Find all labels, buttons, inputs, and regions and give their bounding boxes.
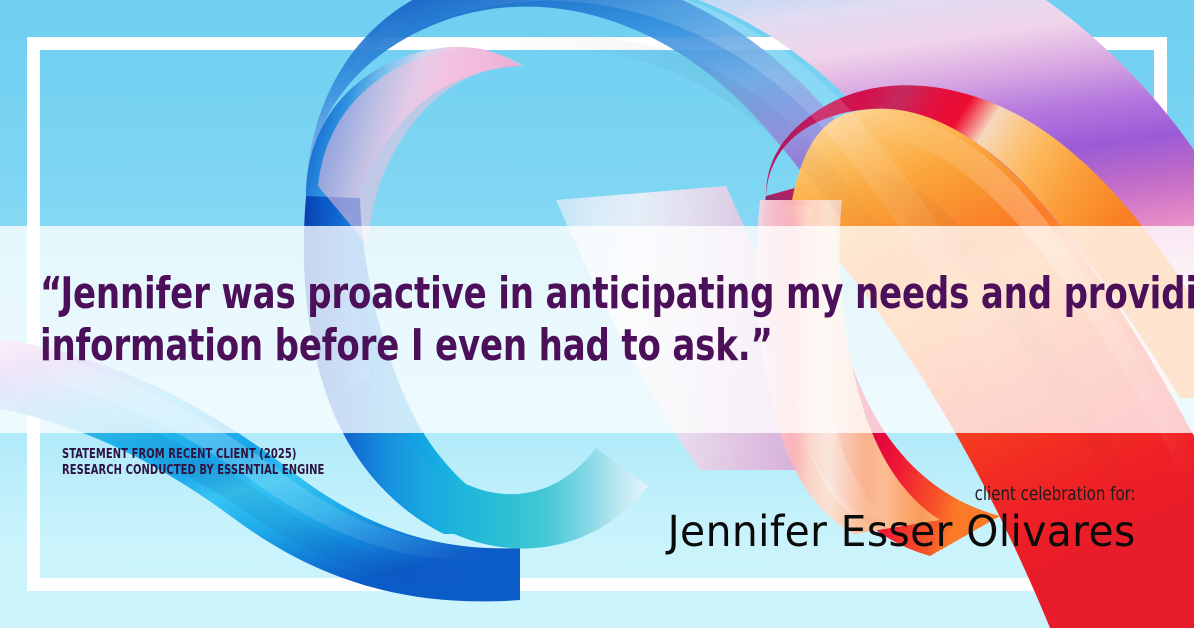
quote-line-1: “Jennifer was proactive in anticipating … xyxy=(40,268,900,320)
attribution-line-1: STATEMENT FROM RECENT CLIENT (2025) xyxy=(62,447,324,463)
quote-line-2: information before I even had to ask.” xyxy=(40,320,900,372)
signoff-block: client celebration for: Jennifer Esser O… xyxy=(643,483,1136,557)
testimonial-graphic-canvas: “Jennifer was proactive in anticipating … xyxy=(0,0,1194,628)
signoff-name: Jennifer Esser Olivares xyxy=(668,507,1136,557)
signoff-label: client celebration for: xyxy=(702,483,1136,505)
attribution-line-2: RESEARCH CONDUCTED BY ESSENTIAL ENGINE xyxy=(62,463,324,479)
testimonial-quote: “Jennifer was proactive in anticipating … xyxy=(40,268,1040,372)
attribution-block: STATEMENT FROM RECENT CLIENT (2025) RESE… xyxy=(62,447,371,479)
